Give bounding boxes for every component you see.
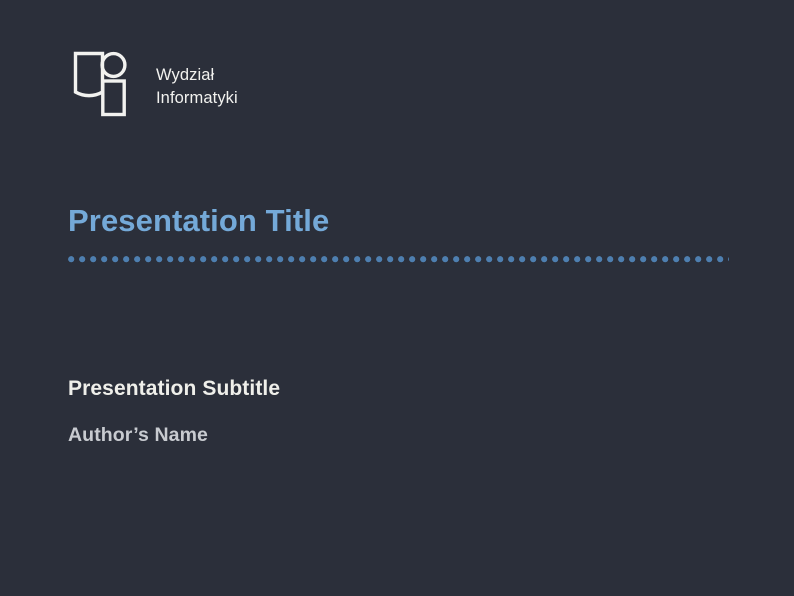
- author-name: Author’s Name: [68, 424, 740, 447]
- title-block: Presentation Title: [68, 204, 740, 263]
- title-slide: Wydział Informatyki Presentation Title P…: [0, 0, 794, 596]
- subtitle-block: Presentation Subtitle Author’s Name: [68, 376, 740, 448]
- page-subtitle: Presentation Subtitle: [68, 376, 740, 401]
- wydzial-informatyki-logo-icon: [68, 48, 140, 122]
- dotted-divider: [68, 256, 729, 263]
- page-title: Presentation Title: [68, 204, 740, 239]
- logo-text: Wydział Informatyki: [156, 60, 238, 111]
- logo-lockup: Wydział Informatyki: [68, 48, 238, 122]
